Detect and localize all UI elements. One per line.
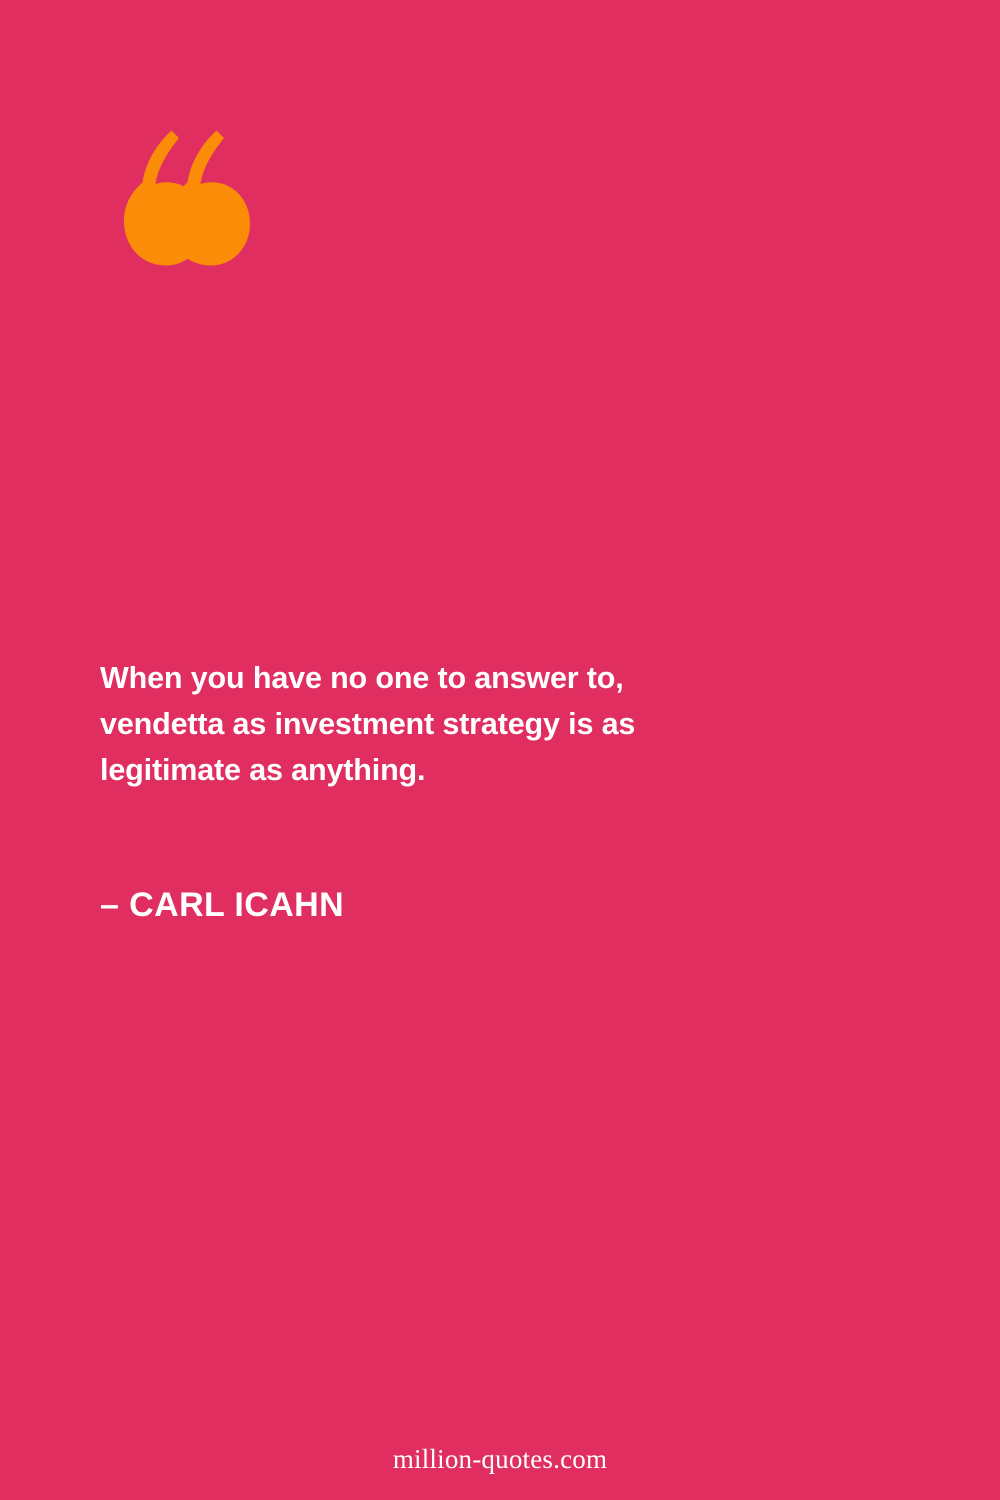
site-watermark-link[interactable]: million-quotes.com <box>393 1444 607 1474</box>
quote-card: When you have no one to answer to, vende… <box>0 0 1000 1500</box>
quote-text: When you have no one to answer to, vende… <box>100 655 720 793</box>
attribution-row: – CARL ICAHN <box>100 884 720 926</box>
footer: million-quotes.com <box>0 1442 1000 1476</box>
open-double-quote-icon <box>93 122 261 280</box>
quote-author: – CARL ICAHN <box>100 884 720 926</box>
quote-body: When you have no one to answer to, vende… <box>100 655 720 793</box>
